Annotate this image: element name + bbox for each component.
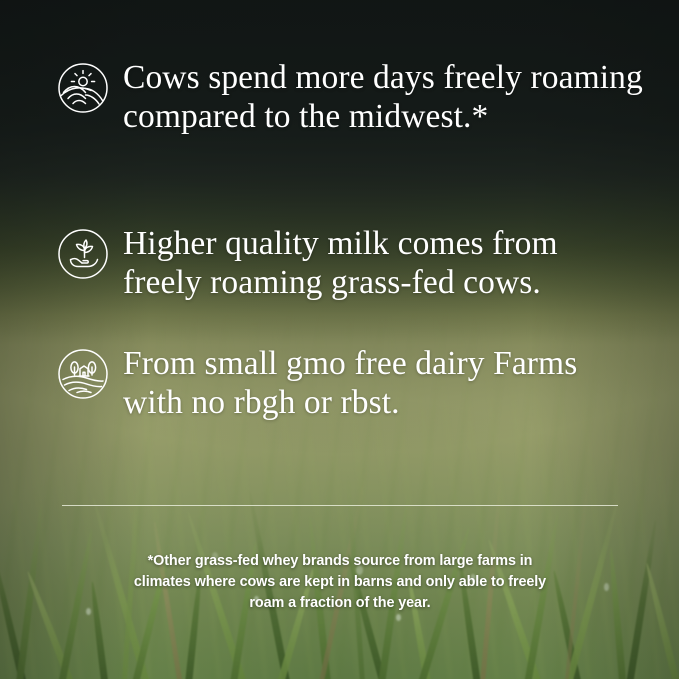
poster-content: Cows spend more days freely roaming comp…	[0, 0, 679, 679]
feature-row: From small gmo free dairy Farms with no …	[57, 344, 649, 422]
footnote-text: *Other grass-fed whey brands source from…	[120, 551, 560, 614]
feature-text: From small gmo free dairy Farms with no …	[123, 344, 643, 422]
feature-text: Higher quality milk comes from freely ro…	[123, 224, 643, 302]
farm-with-trees-icon	[57, 348, 109, 400]
horizontal-divider	[62, 505, 618, 506]
feature-row: Higher quality milk comes from freely ro…	[57, 224, 649, 302]
sun-over-field-icon	[57, 62, 109, 114]
feature-text: Cows spend more days freely roaming comp…	[123, 58, 643, 136]
hand-holding-sprout-icon	[57, 228, 109, 280]
product-benefits-poster: Cows spend more days freely roaming comp…	[0, 0, 679, 679]
feature-row: Cows spend more days freely roaming comp…	[57, 58, 649, 136]
